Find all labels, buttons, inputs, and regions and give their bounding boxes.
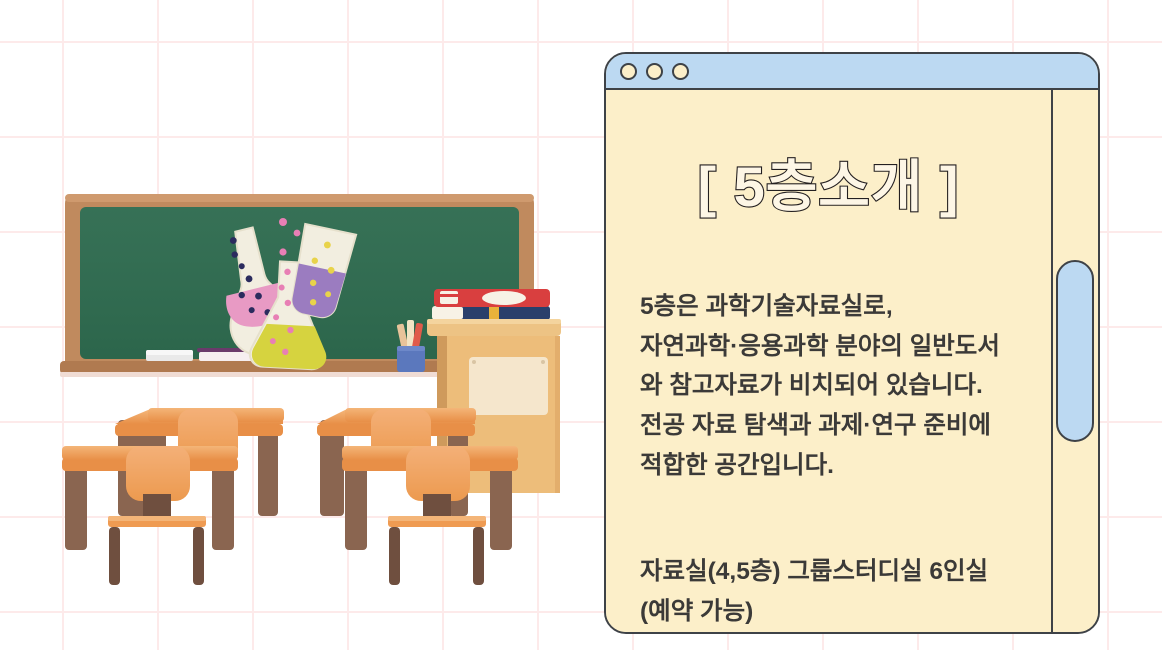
- classroom-science-illustration: [0, 0, 600, 650]
- book-stack-icon: [432, 289, 550, 322]
- close-dot-icon[interactable]: [620, 63, 637, 80]
- vertical-scrollbar-thumb[interactable]: [1056, 260, 1094, 442]
- intro-paragraph: 5층은 과학기술자료실로, 자연과학·응용과학 분야의 일반도서 와 참고자료가…: [640, 287, 1043, 485]
- reservation-note: 자료실(4,5층) 그룹스터디실 6인실 (예약 가능): [640, 552, 1043, 631]
- maximize-dot-icon[interactable]: [672, 63, 689, 80]
- vertical-scrollbar-track[interactable]: [1051, 90, 1098, 632]
- window-content-area: [ 5층소개 ] 5층은 과학기술자료실로, 자연과학·응용과학 분야의 일반도…: [606, 90, 1051, 632]
- window-title-bar: [606, 54, 1098, 90]
- minimize-dot-icon[interactable]: [646, 63, 663, 80]
- desk-group-left: [62, 408, 284, 585]
- poster-stage: [ 5층소개 ] 5층은 과학기술자료실로, 자연과학·응용과학 분야의 일반도…: [0, 0, 1162, 650]
- pencil-cup-icon: [397, 320, 425, 372]
- browser-window-card: [ 5층소개 ] 5층은 과학기술자료실로, 자연과학·응용과학 분야의 일반도…: [604, 52, 1100, 634]
- page-title: [ 5층소개 ]: [606, 142, 1051, 223]
